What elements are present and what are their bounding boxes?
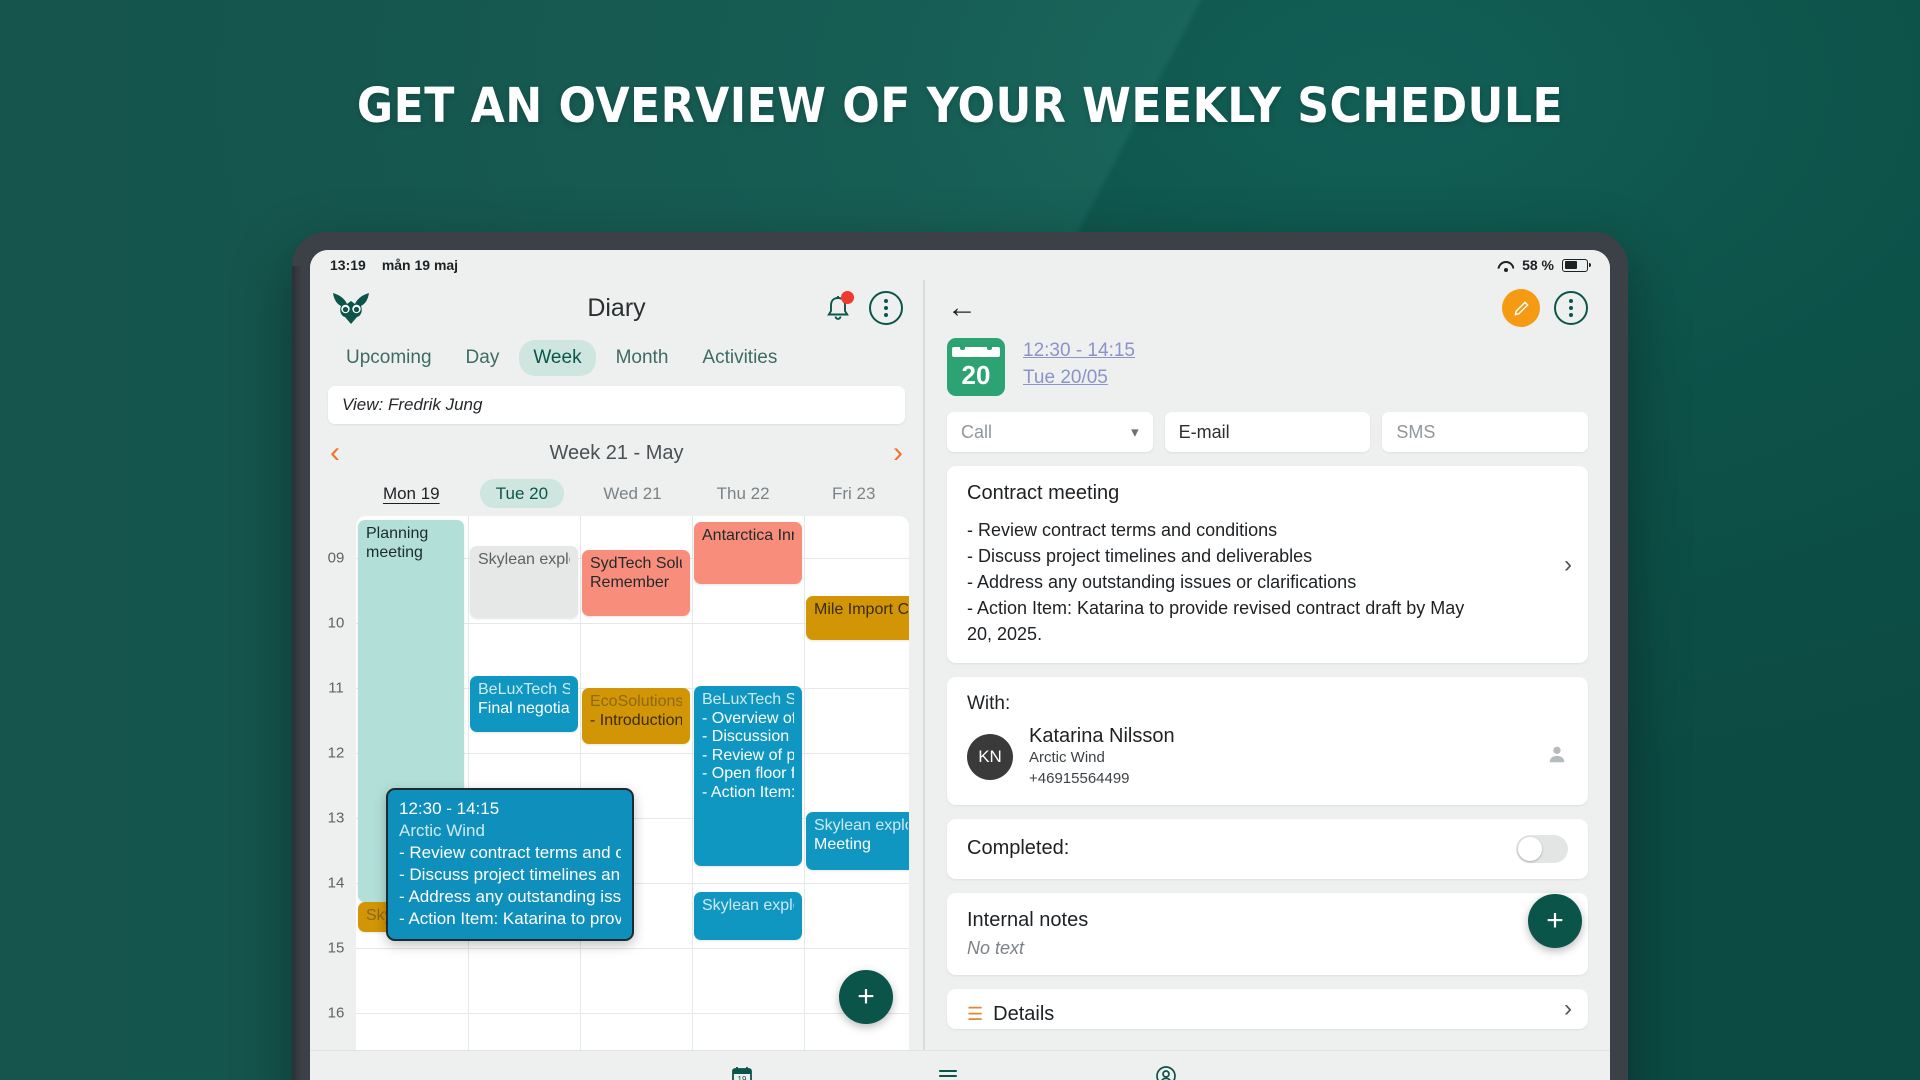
meeting-line: 20, 2025. — [967, 621, 1568, 647]
add-event-fab[interactable]: + — [839, 970, 893, 1024]
event-line: - Discussion o — [702, 728, 794, 747]
view-filter-value: View: Fredrik Jung — [342, 395, 482, 415]
tab-upcoming[interactable]: Upcoming — [332, 340, 446, 376]
details-card[interactable]: ☰ Details › — [947, 989, 1588, 1029]
completed-card[interactable]: Completed: — [947, 819, 1588, 879]
calendar-event[interactable]: Skylean explo — [694, 892, 802, 940]
hour-label: 11 — [316, 680, 356, 697]
person-icon[interactable] — [1546, 743, 1568, 772]
internal-notes-card[interactable]: Internal notes No text › — [947, 893, 1588, 975]
hour-label: 15 — [316, 940, 356, 957]
detail-pane: ← 20 — [925, 280, 1610, 1050]
nav-item-diary[interactable]: 19 Diary — [724, 1063, 759, 1080]
event-line: Remember — [590, 574, 682, 593]
detail-add-fab[interactable]: + — [1528, 894, 1582, 948]
email-button[interactable]: E-mail — [1165, 412, 1371, 452]
day-header-thu[interactable]: Thu 22 — [688, 484, 799, 504]
selected-event-company: Arctic Wind — [399, 820, 621, 842]
bottom-navigation: 19 Diary Menu — [310, 1050, 1610, 1080]
day-label: Wed 21 — [603, 484, 661, 503]
battery-icon — [1562, 259, 1588, 272]
event-line: - Review of pr — [702, 747, 794, 766]
calendar-grid-wrapper: 09 10 11 12 13 14 15 16 — [316, 516, 909, 1050]
week-navigation: ‹ Week 21 - May › — [310, 436, 923, 476]
calendar-event[interactable]: BeLuxTech So Final negotiat — [470, 676, 578, 732]
event-time-link[interactable]: 12:30 - 14:15 — [1023, 340, 1135, 362]
chevron-right-icon[interactable]: › — [893, 438, 903, 468]
tab-activities[interactable]: Activities — [688, 340, 791, 376]
more-vertical-icon[interactable] — [869, 291, 903, 325]
day-header-wed[interactable]: Wed 21 — [577, 484, 688, 504]
calendar-icon: 20 — [947, 338, 1005, 396]
day-header-mon[interactable]: Mon 19 — [356, 484, 467, 504]
details-label: Details — [993, 1003, 1054, 1026]
nav-item-menu[interactable]: Menu — [929, 1063, 967, 1080]
calendar-event[interactable]: Skylean explo Meeting — [806, 812, 909, 870]
event-line: - Action Item: — [702, 784, 794, 803]
completed-label: Completed: — [967, 837, 1069, 860]
event-line: Skylean explo — [814, 817, 908, 836]
event-line: - Overview of — [702, 710, 794, 729]
selected-event-line: - Discuss project timelines and de — [399, 864, 621, 886]
event-date-summary: 20 12:30 - 14:15 Tue 20/05 — [925, 336, 1610, 412]
email-label: E-mail — [1179, 422, 1230, 443]
plus-icon: + — [1546, 904, 1564, 938]
calendar-19-icon: 19 — [730, 1063, 754, 1080]
tab-week[interactable]: Week — [519, 340, 595, 376]
sms-button[interactable]: SMS — [1382, 412, 1588, 452]
tab-day[interactable]: Day — [452, 340, 514, 376]
view-tabs: Upcoming Day Week Month Activities — [310, 336, 923, 386]
calendar-event[interactable]: Mile Import C — [806, 596, 909, 640]
with-label: With: — [967, 693, 1568, 715]
calendar-event[interactable]: Skylean explo — [470, 546, 578, 618]
selected-event-time: 12:30 - 14:15 — [399, 798, 621, 820]
detail-header: ← — [925, 280, 1610, 336]
battery-percent-label: 58 % — [1522, 257, 1554, 273]
calendar-event[interactable]: BeLuxTech So - Overview of - Discussion … — [694, 686, 802, 866]
avatar: KN — [967, 734, 1013, 780]
selected-event-line: - Action Item: Katarina to provide — [399, 908, 621, 930]
hour-label: 16 — [316, 1005, 356, 1022]
internal-notes-body: No text — [967, 938, 1568, 959]
status-date: mån 19 maj — [382, 257, 458, 273]
meeting-title: Contract meeting — [967, 482, 1568, 505]
event-date-link[interactable]: Tue 20/05 — [1023, 367, 1135, 389]
meeting-line: - Address any outstanding issues or clar… — [967, 569, 1568, 595]
calendar-grid[interactable]: Planning meeting Skylean explo SydTech S… — [356, 516, 909, 1050]
status-bar: 13:19 mån 19 maj 58 % — [310, 250, 1610, 280]
list-icon: ☰ — [967, 1004, 983, 1025]
completed-toggle[interactable] — [1516, 835, 1568, 863]
event-line: Planning — [366, 525, 456, 544]
call-button[interactable]: Call ▾ — [947, 412, 1153, 452]
hour-label: 14 — [316, 875, 356, 892]
chevron-right-icon[interactable]: › — [1564, 995, 1572, 1023]
day-header-row: Mon 19 Tue 20 Wed 21 Thu 22 Fri 23 — [310, 476, 923, 512]
hour-axis: 09 10 11 12 13 14 15 16 — [316, 516, 356, 1050]
sms-label: SMS — [1396, 422, 1435, 443]
event-line: Final negotiat — [478, 700, 570, 719]
more-vertical-icon[interactable] — [1554, 291, 1588, 325]
calendar-event[interactable]: EcoSolutions - Introduction — [582, 688, 690, 744]
app-header: Diary — [310, 280, 923, 336]
nav-item-contacts[interactable]: Contacts — [1137, 1063, 1196, 1080]
promo-headline: GET AN OVERVIEW OF YOUR WEEKLY SCHEDULE — [77, 78, 1843, 134]
event-line: EcoSolutions — [590, 693, 682, 712]
day-header-fri[interactable]: Fri 23 — [798, 484, 909, 504]
chevron-right-icon[interactable]: › — [1564, 551, 1572, 579]
tab-month[interactable]: Month — [602, 340, 683, 376]
event-line: Skylean explo — [478, 551, 570, 570]
contact-actions: Call ▾ E-mail SMS — [925, 412, 1610, 466]
contact-company: Arctic Wind — [1029, 748, 1175, 768]
day-label: Mon 19 — [383, 484, 440, 503]
day-header-tue[interactable]: Tue 20 — [467, 484, 578, 504]
calendar-event[interactable]: Antarctica Inn — [694, 522, 802, 584]
tablet-screen: 13:19 mån 19 maj 58 % — [310, 250, 1610, 1080]
hour-label: 12 — [316, 745, 356, 762]
owl-logo-icon — [330, 291, 372, 325]
event-line: Meeting — [814, 836, 908, 855]
calendar-pane: Diary — [310, 280, 923, 1050]
svg-text:19: 19 — [737, 1075, 746, 1080]
meeting-line: - Review contract terms and conditions — [967, 517, 1568, 543]
event-line: meeting — [366, 544, 456, 563]
hour-label: 09 — [316, 550, 356, 567]
event-line: Skylean explo — [702, 897, 794, 916]
event-line: - Introduction — [590, 712, 682, 731]
selected-event-line: - Review contract terms and cond — [399, 842, 621, 864]
status-time: 13:19 — [330, 257, 366, 273]
chevron-left-icon[interactable]: ‹ — [330, 438, 340, 468]
calendar-event[interactable]: SydTech Solut Remember — [582, 550, 690, 616]
hour-label: 10 — [316, 615, 356, 632]
day-label: Fri 23 — [832, 484, 875, 503]
bell-icon[interactable] — [823, 293, 853, 323]
chevron-down-icon: ▾ — [1131, 423, 1139, 441]
contacts-icon — [1154, 1063, 1178, 1080]
event-line: BeLuxTech So — [478, 681, 570, 700]
selected-event-line: - Address any outstanding issues — [399, 886, 621, 908]
internal-notes-title: Internal notes — [967, 909, 1568, 932]
day-label: Tue 20 — [480, 479, 564, 508]
hour-label: 13 — [316, 810, 356, 827]
call-label: Call — [961, 422, 992, 443]
calendar-day-number: 20 — [962, 360, 991, 391]
week-label: Week 21 - May — [549, 442, 683, 465]
meeting-line: - Discuss project timelines and delivera… — [967, 543, 1568, 569]
arrow-left-icon[interactable]: ← — [947, 293, 977, 323]
event-line: Mile Import C — [814, 601, 908, 620]
hamburger-icon — [936, 1063, 960, 1080]
wifi-icon — [1497, 259, 1514, 271]
tablet-device-frame: 13:19 mån 19 maj 58 % — [292, 232, 1628, 1080]
view-filter-input[interactable]: View: Fredrik Jung — [328, 386, 905, 424]
contact-phone: +46915564499 — [1029, 769, 1175, 789]
day-label: Thu 22 — [717, 484, 770, 503]
meeting-line: - Action Item: Katarina to provide revis… — [967, 595, 1568, 621]
pencil-icon[interactable] — [1502, 289, 1540, 327]
event-line: BeLuxTech So — [702, 691, 794, 710]
meeting-card[interactable]: Contract meeting - Review contract terms… — [947, 466, 1588, 663]
notification-badge — [841, 291, 854, 304]
selected-event-card[interactable]: 12:30 - 14:15 Arctic Wind - Review contr… — [386, 788, 634, 941]
contact-name: Katarina Nilsson — [1029, 725, 1175, 748]
with-card[interactable]: With: KN Katarina Nilsson Arctic Wind +4… — [947, 677, 1588, 805]
event-line: - Open floor f — [702, 765, 794, 784]
event-line: Antarctica Inn — [702, 527, 794, 546]
plus-icon: + — [857, 980, 875, 1014]
event-line: SydTech Solut — [590, 555, 682, 574]
